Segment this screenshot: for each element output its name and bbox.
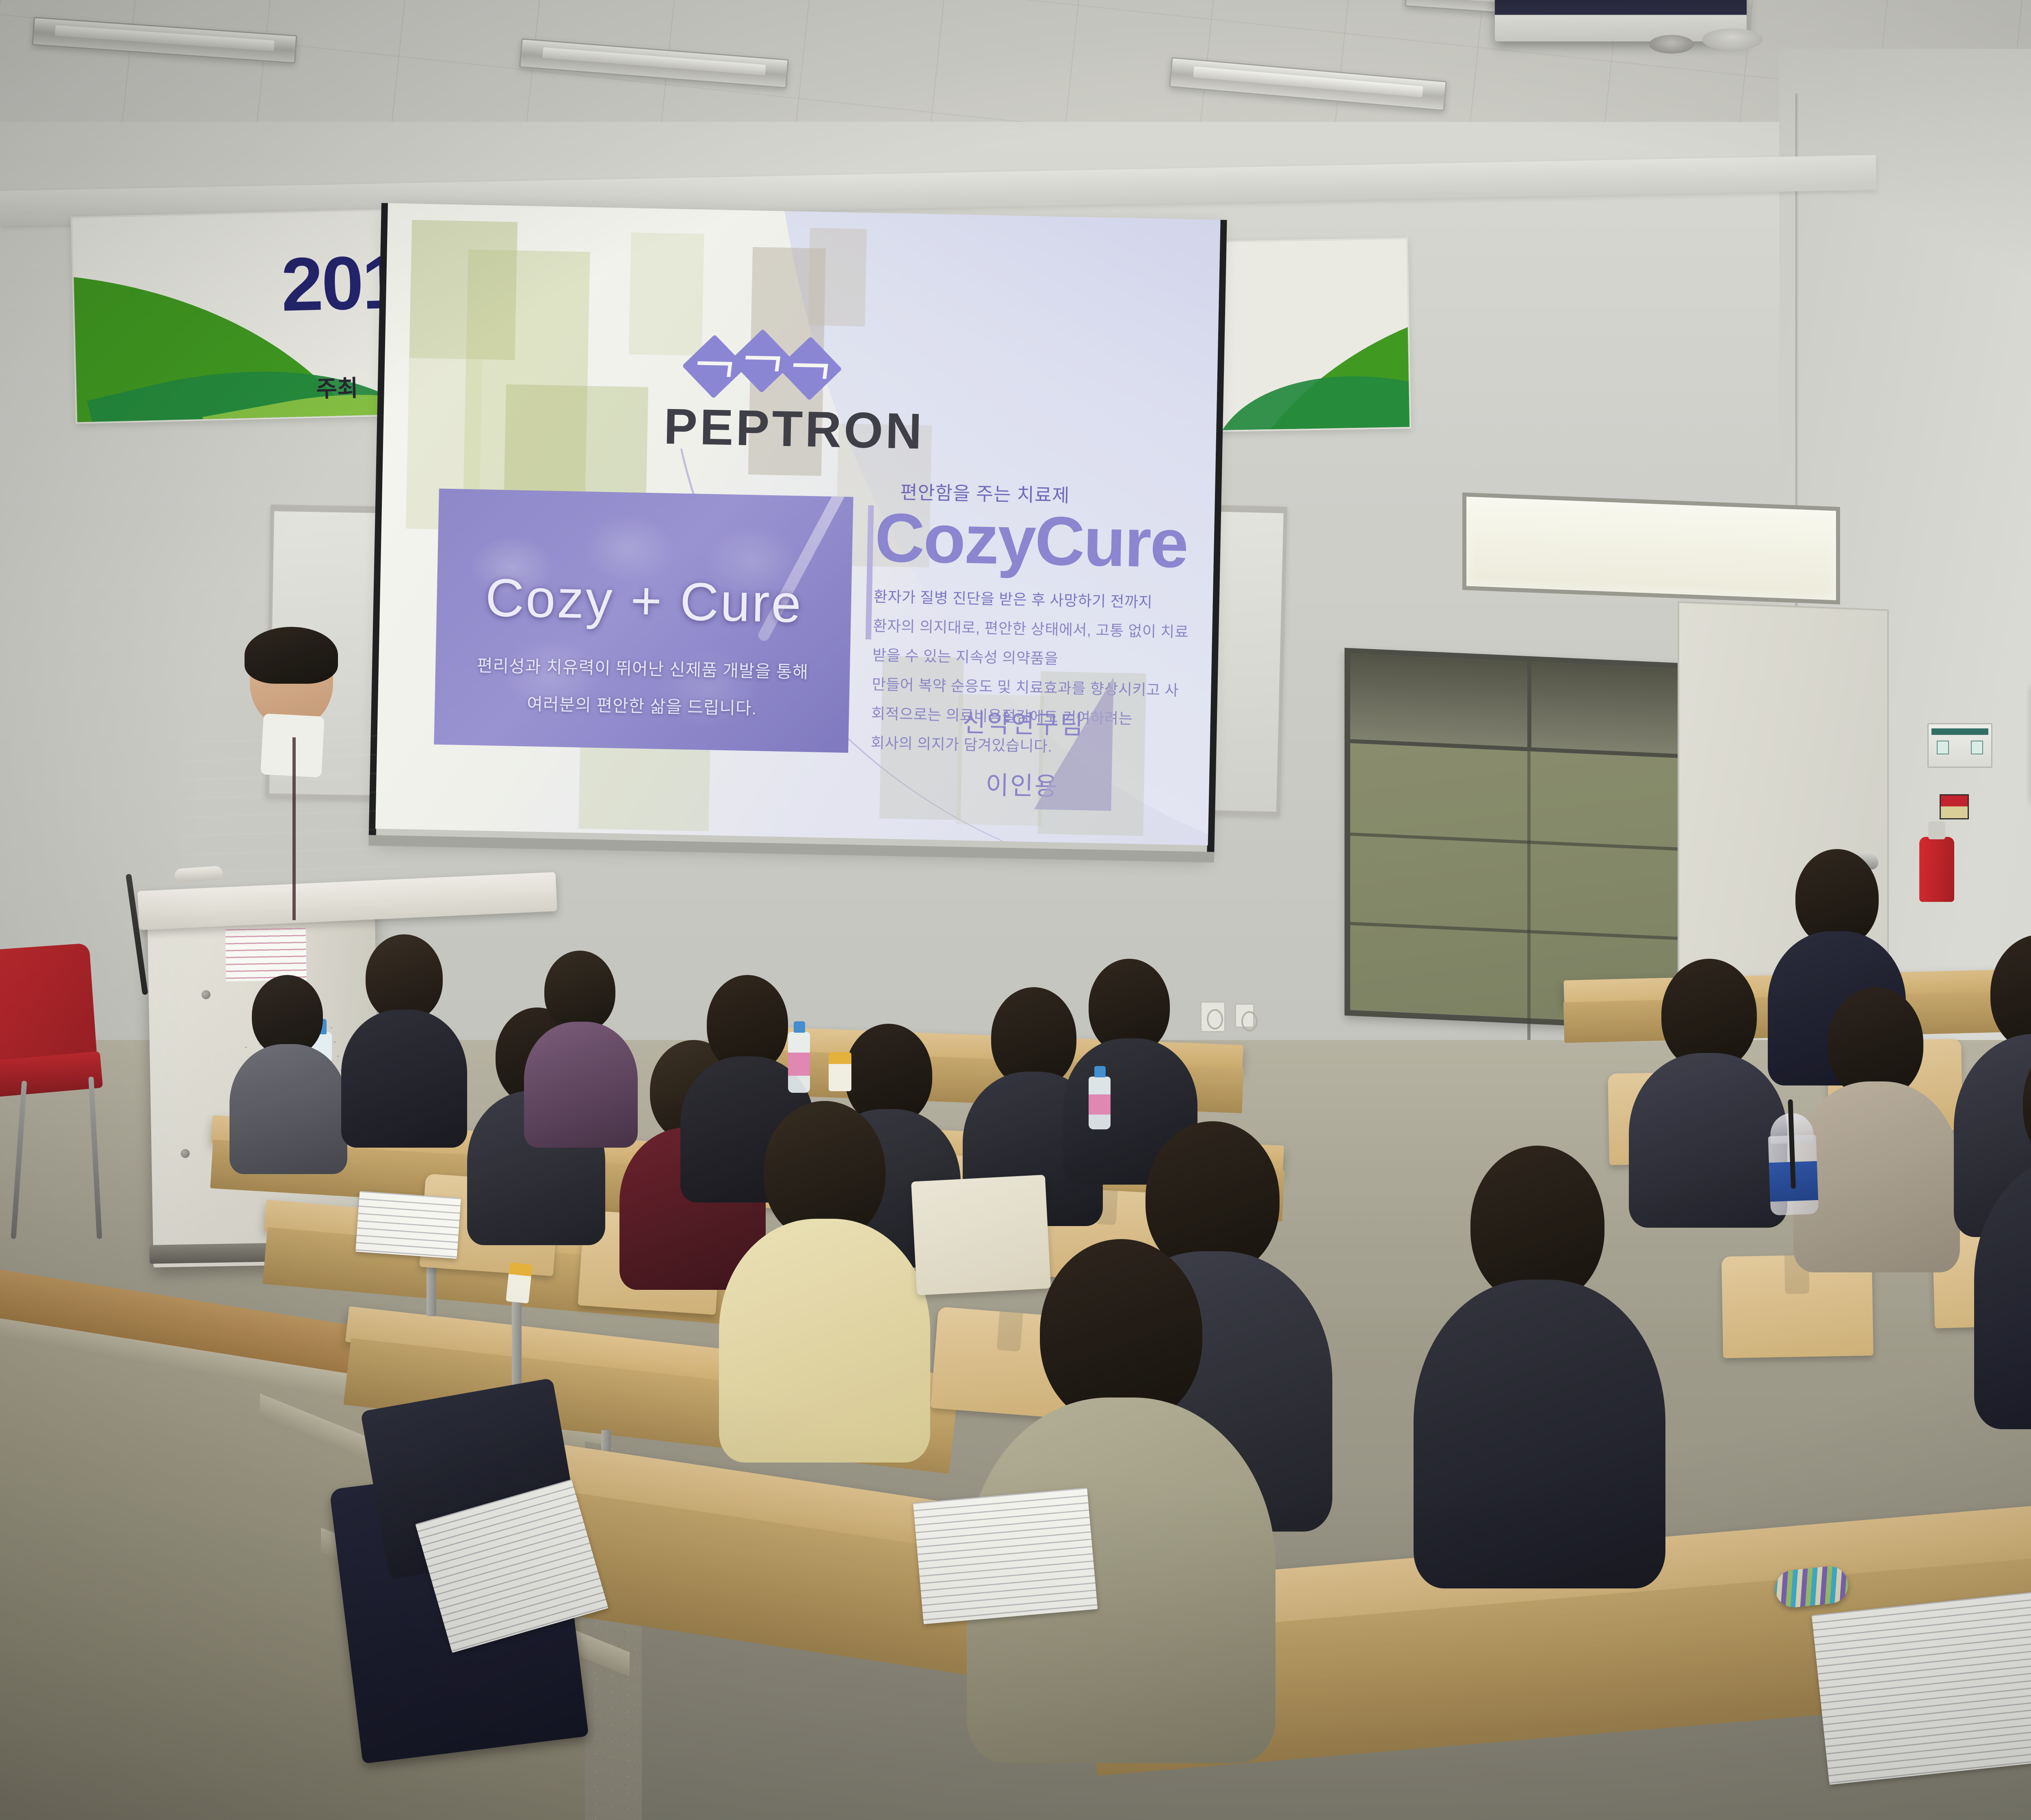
cozy-cure-image-subtitle-2: 여러분의 편안한 삶을 드립니다. xyxy=(435,689,849,721)
handout-papers xyxy=(1812,1587,2031,1785)
audience-head xyxy=(544,951,615,1032)
banner-host-label: 주최 xyxy=(316,370,358,403)
presenter-at-lectern xyxy=(171,632,422,940)
lecture-hall-photo: 2018 주최 xyxy=(0,0,2031,1820)
cozy-cure-product-image: Cozy + Cure 편리성과 치유력이 뛰어난 신제품 개발을 통해 여러분… xyxy=(434,489,853,753)
fire-safety-sign-icon xyxy=(1940,794,1969,819)
audience-body xyxy=(230,1044,347,1174)
water-bottle xyxy=(1089,1077,1111,1129)
cabinet-glass-doors[interactable] xyxy=(1350,654,1704,759)
peptron-logo-icon xyxy=(686,331,834,407)
handout-papers xyxy=(355,1191,461,1259)
presenter-hair xyxy=(245,627,338,684)
snack-item xyxy=(506,1262,533,1303)
iced-coffee-cup xyxy=(1767,1112,1820,1215)
cozy-cure-image-title: Cozy + Cure xyxy=(436,566,852,635)
audience-head xyxy=(366,934,443,1022)
cozycure-title: CozyCure xyxy=(874,504,1196,578)
audience-body xyxy=(1629,1053,1787,1228)
light-switch[interactable] xyxy=(1971,741,1983,754)
handout-papers xyxy=(913,1488,1098,1624)
light-switch-panel[interactable] xyxy=(1927,723,1992,768)
audience-body xyxy=(524,1022,638,1148)
podium-screw xyxy=(181,1149,190,1158)
audience-body-knit xyxy=(1793,1081,1960,1272)
projection-screen: PEPTRON Cozy + Cure 편리성과 치유력이 뛰어난 신제품 개발… xyxy=(375,203,1221,854)
podium-screw xyxy=(201,990,210,999)
snack-item xyxy=(829,1052,851,1091)
transom-window xyxy=(1462,492,1840,604)
smoke-detector-icon xyxy=(1702,28,1763,50)
cozycure-body-line: 환자의 의지대로, 편안한 상태에서, 고통 없이 치료 받을 수 있는 지속성… xyxy=(872,611,1194,676)
light-switch[interactable] xyxy=(1937,741,1949,754)
wall-outlet-icon xyxy=(1200,1001,1226,1032)
projected-slide: PEPTRON Cozy + Cure 편리성과 치유력이 뛰어난 신제품 개발… xyxy=(375,203,1220,845)
cozy-cure-image-subtitle-1: 편리성과 치유력이 뛰어난 신제품 개발을 통해 xyxy=(435,651,850,684)
wall-outlet-icon xyxy=(1235,1003,1254,1028)
audience-body xyxy=(1414,1280,1665,1588)
audience-body-cream-coat xyxy=(719,1219,930,1462)
slide-mosaic-block xyxy=(808,228,867,327)
tote-bag xyxy=(911,1175,1051,1296)
logo-diamond-icon xyxy=(778,336,842,401)
water-bottle xyxy=(788,1032,810,1093)
panel-label-strip xyxy=(1931,728,1988,735)
peptron-wordmark: PEPTRON xyxy=(663,398,925,461)
presenter-jacket-zip xyxy=(292,737,296,920)
storage-cabinet xyxy=(1345,648,1710,1032)
audience-body xyxy=(341,1010,467,1148)
fire-extinguisher-icon xyxy=(1919,837,1954,902)
projector-lens-icon xyxy=(1649,35,1694,54)
